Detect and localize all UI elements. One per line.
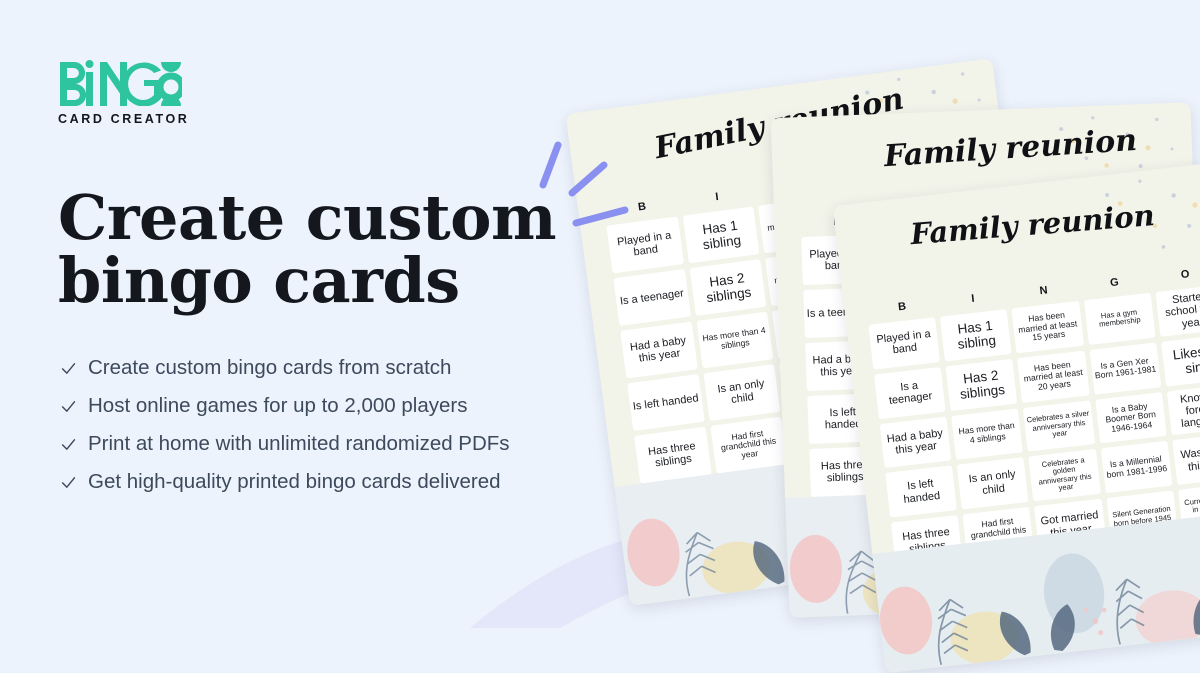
column-letter-n: N [1008,281,1080,301]
list-item: Print at home with unlimited randomized … [60,434,510,455]
bingo-cell[interactable]: Is a Millennial born 1981-1996 [1100,441,1172,493]
bingo-card-front[interactable]: Family reunion B I N G O Played in a ban… [833,161,1200,673]
bingo-cell[interactable]: Has 2 siblings [946,359,1018,411]
column-letter-i: I [679,186,756,208]
headline-line-2: bingo cards [58,249,578,312]
bingo-cell[interactable]: Is a Baby Boomer Born 1946-1964 [1095,392,1167,444]
hero-left-panel: CARD CREATOR Create custom bingo cards C… [58,0,678,628]
bingo-cell[interactable]: Has 1 sibling [940,309,1012,361]
bingo-cell[interactable]: Has 2 siblings [689,259,766,316]
bingo-cell[interactable]: Played in a band [868,317,940,369]
bingo-cell[interactable]: Has 1 sibling [682,206,759,263]
bingo-cell[interactable]: Knows a foreign language [1167,384,1200,436]
headline-line-1: Create custom [58,181,556,254]
bingo-cell[interactable]: Is an only child [957,458,1029,510]
feature-text: Print at home with unlimited randomized … [88,434,510,455]
feature-list: Create custom bingo cards from scratch H… [60,358,510,510]
list-item: Get high-quality printed bingo cards del… [60,472,510,493]
logo-subtitle: CARD CREATOR [58,112,268,126]
bingo-cell[interactable]: Had a baby this year [880,416,952,468]
feature-text: Get high-quality printed bingo cards del… [88,472,501,493]
bingo-cell[interactable]: Is left handed [885,466,957,518]
feature-text: Host online games for up to 2,000 player… [88,396,467,417]
check-icon [60,436,77,453]
check-icon [60,360,77,377]
bingo-cell[interactable]: Has been married at least 20 years [1017,350,1089,402]
bingo-cell[interactable]: Has been married at least 15 years [1012,301,1084,353]
bingo-cell[interactable]: Is a teenager [874,367,946,419]
list-item: Host online games for up to 2,000 player… [60,396,510,417]
bingo-cell[interactable]: Is a Gen Xer Born 1961-1981 [1089,342,1161,394]
bingo-cell[interactable]: Has a gym membership [1084,293,1156,345]
bingo-cell[interactable]: Likes to sing [1161,334,1200,386]
bingo-cell[interactable]: Was on TV this year [1172,433,1200,485]
bingo-wordmark-icon [58,56,182,106]
bingo-cell[interactable]: Celebrates a golden anniversary this yea… [1029,449,1101,501]
column-letter-i: I [937,289,1009,309]
bingo-cell[interactable]: Celebrates a silver anniversary this yea… [1023,400,1095,452]
bingo-cell[interactable]: Started school this year [1155,285,1200,337]
feature-text: Create custom bingo cards from scratch [88,358,451,379]
check-icon [60,474,77,491]
column-letter-b: B [866,297,938,317]
check-icon [60,398,77,415]
bingo-cell[interactable]: Has more than 4 siblings [951,408,1023,460]
bingo-cell[interactable]: Is an only child [703,364,780,421]
page-title: Create custom bingo cards [58,186,578,312]
logo[interactable]: CARD CREATOR [58,56,268,126]
bingo-cell[interactable]: Has more than 4 siblings [696,312,773,369]
list-item: Create custom bingo cards from scratch [60,358,510,379]
